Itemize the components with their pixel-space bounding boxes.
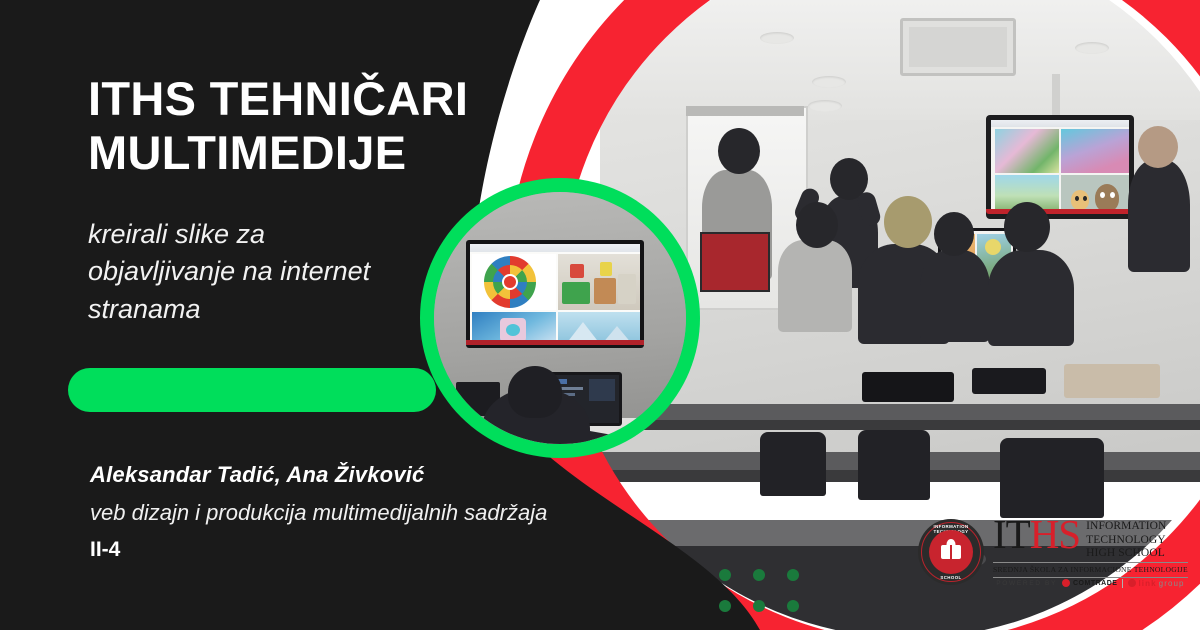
tagline-line-3: HIGH SCHOOL (1086, 547, 1166, 561)
iths-wordmark: ITHS (993, 516, 1080, 554)
comtrade-label: COMTRADE (1073, 580, 1117, 587)
inset-wall-display (466, 240, 644, 348)
tagline-line-2: TECHNOLOGY (1086, 534, 1166, 548)
linkgroup-icon (1128, 579, 1136, 587)
powered-by-row: POWERED BY COMTRADE linkgroup (993, 578, 1188, 588)
school-crest-icon: INFORMATION TECHNOLOGY SCHOOL (918, 519, 984, 585)
book-icon (941, 545, 961, 559)
tagline-line-1: INFORMATION (1086, 520, 1166, 534)
comtrade-icon (1062, 579, 1070, 587)
inset-display-accent (466, 340, 644, 345)
logo-tagline: INFORMATION TECHNOLOGY HIGH SCHOOL (1086, 516, 1166, 561)
page-title: ITHS TEHNIČARI MULTIMEDIJE (88, 72, 558, 179)
linkgroup-label-b: group (1159, 579, 1185, 588)
inset-photo (434, 192, 686, 444)
logo-separator (1122, 579, 1123, 588)
wordmark-it: IT (993, 511, 1030, 557)
decorative-dot (787, 569, 799, 581)
decorative-dot (719, 569, 731, 581)
comtrade-logo: COMTRADE (1062, 579, 1117, 587)
crest-bottom-text: SCHOOL (918, 575, 984, 580)
course-name: veb dizajn i produkcija multimedijalnih … (90, 500, 547, 526)
decorative-dot (753, 569, 765, 581)
wordmark-hs: HS (1030, 511, 1080, 557)
linkgroup-logo: linkgroup (1128, 579, 1184, 588)
dot-grid-decoration (719, 569, 799, 612)
inset-person-head (508, 366, 562, 418)
logo-wordmark: ITHS INFORMATION TECHNOLOGY HIGH SCHOOL … (993, 516, 1188, 588)
inset-photo-circle (420, 178, 700, 458)
poster-canvas: ITHS TEHNIČARI MULTIMEDIJE kreirali slik… (0, 0, 1200, 630)
inset-person-hand (630, 438, 648, 444)
linkgroup-label-a: link (1138, 579, 1156, 588)
authors: Aleksandar Tadić, Ana Živković (90, 462, 425, 488)
subtitle: kreirali slike za objavljivanje na inter… (88, 216, 388, 328)
title-line-2: MULTIMEDIJE (88, 126, 558, 180)
decorative-dot (719, 600, 731, 612)
class-grade: II-4 (90, 538, 120, 562)
title-line-1: ITHS TEHNIČARI (88, 72, 558, 126)
logo-serbian-name: SREDNJA ŠKOLA ZA INFORMACIONE TEHNOLOGIJ… (993, 563, 1188, 576)
decorative-dot (787, 600, 799, 612)
crest-core (929, 530, 973, 574)
green-accent-bar (68, 368, 436, 412)
powered-by-label: POWERED BY (996, 580, 1057, 587)
iths-logo: INFORMATION TECHNOLOGY SCHOOL ITHS INFOR… (918, 516, 1188, 588)
decorative-dot (753, 600, 765, 612)
